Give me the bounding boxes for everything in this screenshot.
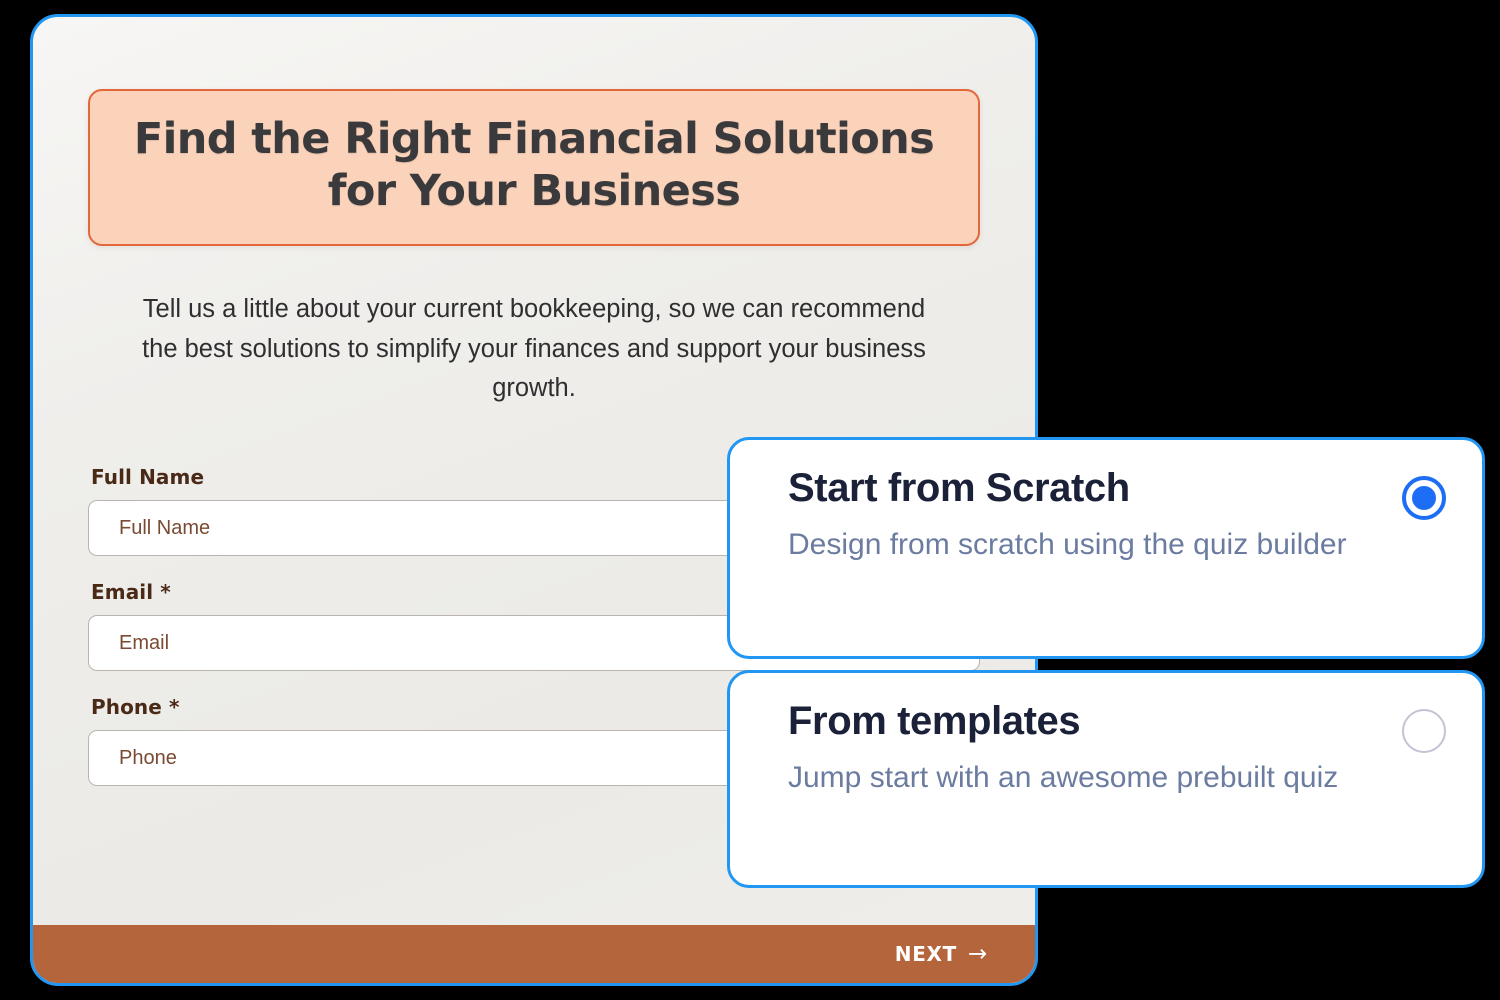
option-title: From templates — [788, 699, 1378, 744]
option-description: Design from scratch using the quiz build… — [788, 525, 1378, 565]
option-text-group: From templates Jump start with an awesom… — [788, 699, 1378, 798]
arrow-right-icon: → — [968, 943, 988, 966]
next-button[interactable]: NEXT → — [895, 942, 988, 966]
next-button-label: NEXT — [895, 942, 957, 966]
option-text-group: Start from Scratch Design from scratch u… — [788, 466, 1378, 565]
option-card-start-from-scratch[interactable]: Start from Scratch Design from scratch u… — [727, 437, 1485, 659]
form-intro-text: Tell us a little about your current book… — [139, 290, 929, 409]
form-title-banner: Find the Right Financial Solutions for Y… — [88, 89, 980, 246]
radio-button-selected-icon[interactable] — [1402, 476, 1446, 520]
page-title: Find the Right Financial Solutions for Y… — [120, 113, 948, 218]
form-footer-bar: NEXT → — [33, 925, 1035, 983]
option-card-from-templates[interactable]: From templates Jump start with an awesom… — [727, 670, 1485, 888]
option-description: Jump start with an awesome prebuilt quiz — [788, 758, 1378, 798]
radio-button-unselected-icon[interactable] — [1402, 709, 1446, 753]
option-title: Start from Scratch — [788, 466, 1378, 511]
